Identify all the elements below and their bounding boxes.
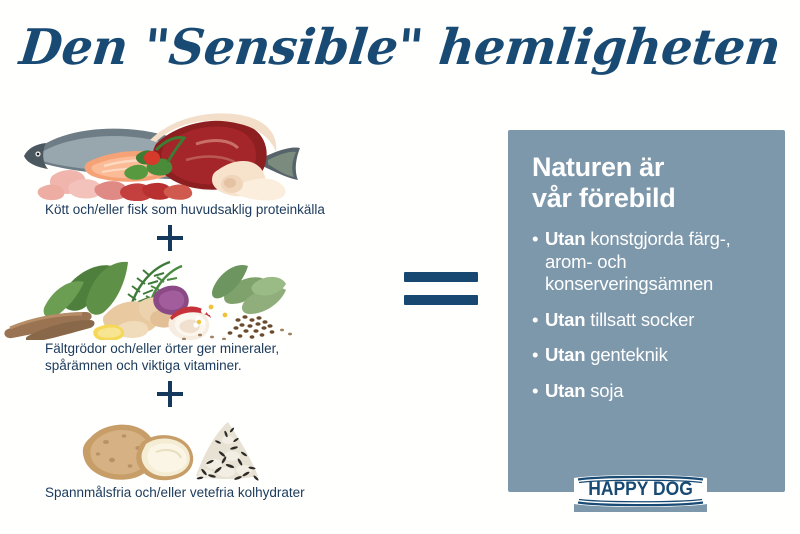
ingredient-caption-3: Spannmålsfria och/eller vetefria kolhydr… — [0, 484, 380, 501]
meat-and-fish-photo — [0, 96, 380, 201]
plus-vertical-bar — [168, 225, 172, 251]
ingredient-caption-2: Fältgrödor och/eller örter ger mineraler… — [0, 340, 380, 374]
bullet-rest-3: genteknik — [585, 344, 667, 365]
ingredient-block-3: Spannmålsfria och/eller vetefria kolhydr… — [0, 412, 380, 501]
bullet-item-4: • Utan soja — [532, 380, 765, 403]
bullet-strong-2: Utan — [545, 309, 585, 330]
ingredient-block-1: Kött och/eller fisk som huvudsaklig prot… — [0, 96, 380, 218]
potato-rice-illustration — [0, 412, 340, 484]
bullet-item-3: • Utan genteknik — [532, 344, 765, 367]
bullet-marker: • — [532, 344, 538, 367]
infographic-page: Den "Sensible" hemligheten — [0, 0, 800, 534]
equals-bottom-bar — [404, 295, 478, 305]
ingredients-column: Kött och/eller fisk som huvudsaklig prot… — [0, 96, 380, 501]
bullet-marker: • — [532, 228, 538, 251]
bullet-strong-4: Utan — [545, 380, 585, 401]
nature-panel: Naturen är vår förebild • Utan konstgjor… — [508, 130, 785, 492]
bullet-rest-4: soja — [585, 380, 623, 401]
bullet-item-2: • Utan tillsatt socker — [532, 309, 765, 332]
page-title: Den "Sensible" hemligheten — [0, 18, 800, 76]
herbs-illustration — [0, 256, 340, 340]
herbs-and-field-crops-photo — [0, 256, 380, 340]
meat-and-fish-illustration — [0, 96, 340, 201]
equals-top-bar — [404, 272, 478, 282]
bullet-strong-1: Utan — [545, 228, 585, 249]
ingredient-block-2: Fältgrödor och/eller örter ger mineraler… — [0, 256, 380, 374]
ingredient-caption-1: Kött och/eller fisk som huvudsaklig prot… — [0, 201, 380, 218]
bullet-marker: • — [532, 309, 538, 332]
bullet-rest-2: tillsatt socker — [585, 309, 694, 330]
potato-and-rice-photo — [0, 412, 380, 484]
logo-text: HAPPY DOG — [579, 479, 701, 501]
bullet-strong-3: Utan — [545, 344, 585, 365]
panel-heading: Naturen är vår förebild — [532, 152, 765, 214]
happy-dog-logo: HAPPY DOG — [574, 470, 707, 512]
plus-vertical-bar — [168, 381, 172, 407]
bullet-item-1: • Utan konstgjorda färg-, arom- och kons… — [532, 228, 765, 296]
equals-sign — [404, 272, 478, 305]
bullet-marker: • — [532, 380, 538, 403]
plus-sign-2 — [0, 376, 380, 410]
panel-bullet-list: • Utan konstgjorda färg-, arom- och kons… — [532, 228, 765, 402]
plus-sign-1 — [0, 220, 380, 254]
